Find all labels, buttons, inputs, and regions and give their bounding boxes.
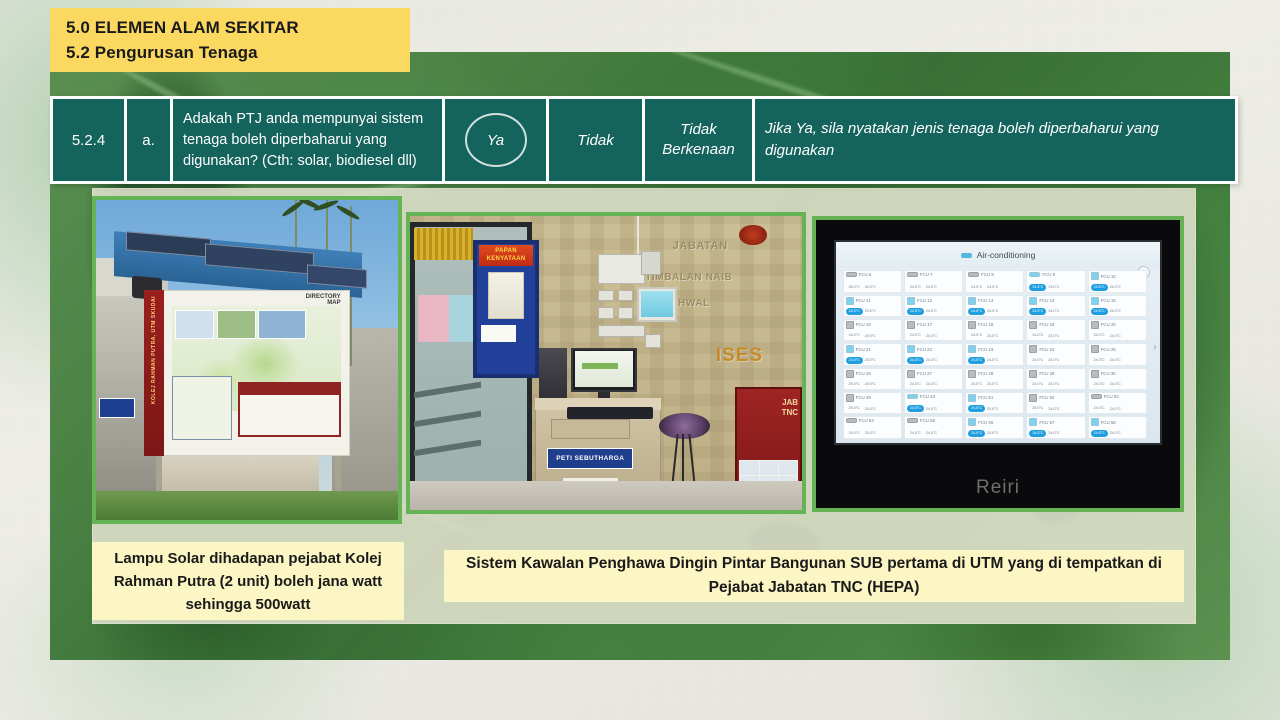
fcu-tile[interactable]: FCU 1824.0°C24.0°C <box>965 319 1024 341</box>
sponsor-logo <box>779 461 797 475</box>
fcu-set-temp: 24.0°C <box>1110 285 1121 289</box>
fcu-unit-name: FCU 27 <box>917 371 932 376</box>
fcu-unit-icon <box>1091 370 1099 378</box>
fcu-set-temp: 23.0°C <box>987 407 998 411</box>
fcu-set-temp: 24.0°C <box>926 407 937 411</box>
fcu-unit-name: FCU 55 <box>920 418 935 423</box>
wall-switch-row <box>598 325 645 337</box>
notice-paper <box>481 325 516 343</box>
fcu-set-temp: 24.0°C <box>1110 309 1121 313</box>
photo-office-lobby: JABATAN TIMBALAN NAIB HAL EHWAL ISES PAP… <box>406 212 806 514</box>
map-inset <box>172 376 232 440</box>
fcu-unit-name: FCU 52 <box>1039 395 1054 400</box>
fcu-unit-icon <box>1029 418 1037 426</box>
fcu-tile[interactable]: FCU 2024.0°C24.0°C <box>1088 319 1147 341</box>
fcu-tile[interactable]: FCU 824.0°C24.0°C <box>965 270 1024 292</box>
fcu-current-temp: 24.5°C <box>1091 308 1108 315</box>
fcu-unit-name: FCU 16 <box>856 322 871 327</box>
notice-board-line-2: KENYATAAN <box>479 255 534 263</box>
fcu-unit-icon <box>1029 321 1037 329</box>
fcu-tile[interactable]: FCU 2724.0°C24.0°C <box>904 368 963 390</box>
fcu-set-temp: 24.0°C <box>987 382 998 386</box>
fcu-tile[interactable]: FCU 2224.5°C24.0°C <box>904 343 963 365</box>
fcu-current-temp: 24.5°C <box>968 357 985 364</box>
fcu-set-temp: 24.0°C <box>926 382 937 386</box>
fcu-tile[interactable]: FCU 5524.0°C24.0°C <box>904 416 963 438</box>
fcu-unit-name: FCU 30 <box>1101 371 1116 376</box>
fcu-current-temp: 25.0°C <box>1029 405 1046 412</box>
map-title-text: DIRECTORY MAP <box>301 294 340 307</box>
photo-solar-signboard: KOLEJ RAHMAN PUTRA, UTM SKUDAI DIRECTORY… <box>92 196 402 524</box>
notice-board-line-1: PAPAN <box>479 247 534 255</box>
fcu-set-temp: 24.0°C <box>1110 334 1121 338</box>
ac-panel-header: Air-conditioning <box>836 242 1160 268</box>
monitor-screen-bar <box>582 363 617 369</box>
option-ya-cell[interactable]: Ya <box>445 99 549 181</box>
fcu-set-temp: 24.0°C <box>1048 407 1059 411</box>
fcu-unit-name: FCU 10 <box>1101 274 1116 279</box>
fcu-current-temp: 24.0°C <box>846 405 863 412</box>
fcu-set-temp: 24.0°C <box>987 285 998 289</box>
fcu-tile[interactable]: FCU 1124.5°C23.5°C <box>843 295 902 317</box>
fcu-tile[interactable]: FCU 2624.0°C24.0°C <box>843 368 902 390</box>
fcu-tile[interactable]: FCU 2424.0°C24.0°C <box>1026 343 1085 365</box>
question-table: 5.2.4 a. Adakah PTJ anda mempunyai siste… <box>50 96 1238 184</box>
wall-switch-4 <box>618 307 634 319</box>
question-text: Adakah PTJ anda mempunyai sistem tenaga … <box>173 99 445 181</box>
sponsor-logo <box>740 461 758 475</box>
fcu-tile[interactable]: FCU 5424.0°C23.0°C <box>843 416 902 438</box>
fcu-current-temp: 24.0°C <box>1029 357 1046 364</box>
fcu-unit-name: FCU 23 <box>978 347 993 352</box>
slide-title-line-1: 5.0 ELEMEN ALAM SEKITAR <box>66 15 410 40</box>
fcu-unit-name: FCU 6 <box>859 272 872 277</box>
fcu-set-temp: 24.0°C <box>1110 407 1121 411</box>
fcu-unit-icon <box>1091 297 1099 305</box>
fcu-tile[interactable]: FCU 2524.0°C24.0°C <box>1088 343 1147 365</box>
slide-title-box: 5.0 ELEMEN ALAM SEKITAR 5.2 Pengurusan T… <box>50 8 410 72</box>
fcu-set-temp: 24.0°C <box>1110 358 1121 362</box>
fcu-current-temp: 24.0°C <box>1091 357 1108 364</box>
wall-switch-3 <box>598 307 614 319</box>
fcu-set-temp: 24.0°C <box>1048 382 1059 386</box>
photo-office-content: JABATAN TIMBALAN NAIB HAL EHWAL ISES PAP… <box>410 216 802 510</box>
caption-solar-lamp: Lampu Solar dihadapan pejabat Kolej Rahm… <box>92 542 404 620</box>
fcu-unit-icon <box>968 394 976 402</box>
fcu-unit-name: FCU 7 <box>920 272 933 277</box>
wall-text-timbalan-naib: TIMBALAN NAIB <box>645 272 802 283</box>
fcu-set-temp: 23.0°C <box>865 431 876 435</box>
fcu-current-temp: 24.0°C <box>1091 332 1108 339</box>
fcu-tile[interactable]: FCU 2123.5°C23.0°C <box>843 343 902 365</box>
fcu-tile[interactable]: FCU 2324.5°C24.0°C <box>965 343 1024 365</box>
fcu-current-temp: 24.0°C <box>968 284 985 291</box>
control-box-small <box>641 251 661 275</box>
option-ya-label: Ya <box>487 132 504 149</box>
fcu-current-temp: 24.5°C <box>1029 308 1046 315</box>
fcu-tile[interactable]: FCU 5624.5°C24.0°C <box>965 416 1024 438</box>
fcu-unit-icon <box>968 272 979 277</box>
floor <box>410 481 802 510</box>
map-photo-3 <box>258 310 306 339</box>
fcu-unit-name: FCU 51 <box>978 395 993 400</box>
device-brand-label: Reiri <box>816 477 1180 499</box>
fcu-tile[interactable]: FCU 1424.5°C24.0°C <box>1026 295 1085 317</box>
fcu-current-temp: 24.5°C <box>1029 284 1046 291</box>
fcu-current-temp: 24.0°C <box>907 332 924 339</box>
fcu-set-temp: 24.0°C <box>1110 431 1121 435</box>
photo-solar-content: KOLEJ RAHMAN PUTRA, UTM SKUDAI DIRECTORY… <box>96 200 398 520</box>
option-tidak-cell[interactable]: Tidak <box>549 99 645 181</box>
fcu-current-temp: 24.0°C <box>846 430 863 437</box>
notice-board-header: PAPAN KENYATAAN <box>479 245 534 266</box>
fcu-unit-icon <box>1029 345 1037 353</box>
fcu-set-temp: 24.0°C <box>865 407 876 411</box>
fcu-unit-icon <box>968 370 976 378</box>
fcu-unit-icon <box>1029 370 1037 378</box>
fcu-unit-icon <box>846 297 854 305</box>
fcu-tile[interactable]: FCU 1724.0°C24.0°C <box>904 319 963 341</box>
fcu-tile[interactable]: FCU 5324.0°C24.0°C <box>1088 392 1147 414</box>
fcu-unit-name: FCU 18 <box>978 322 993 327</box>
map-photo-2 <box>217 310 256 339</box>
fcu-unit-icon <box>1029 394 1037 402</box>
pink-paper <box>418 295 453 342</box>
fcu-set-temp: 24.0°C <box>1110 382 1121 386</box>
fcu-current-temp: 24.5°C <box>907 357 924 364</box>
fcu-unit-name: FCU 58 <box>1101 420 1116 425</box>
fcu-current-temp: 24.5°C <box>1091 430 1108 437</box>
fcu-set-temp: 24.0°C <box>926 309 937 313</box>
fcu-set-temp: 24.0°C <box>865 334 876 338</box>
fcu-unit-icon <box>1029 297 1037 305</box>
fcu-tile[interactable]: FCU 1024.5°C24.0°C <box>1088 270 1147 292</box>
option-na-line-2: Berkenaan <box>662 140 735 160</box>
fcu-current-temp: 24.5°C <box>907 308 924 315</box>
fcu-unit-name: FCU 8 <box>981 272 994 277</box>
red-board-text: JAB TNC <box>743 398 798 439</box>
fcu-set-temp: 24.0°C <box>926 358 937 362</box>
fcu-tile[interactable]: FCU 2824.0°C24.0°C <box>965 368 1024 390</box>
fcu-current-temp: 24.0°C <box>907 284 924 291</box>
fcu-unit-icon <box>846 345 854 353</box>
fcu-set-temp: 24.0°C <box>1048 309 1059 313</box>
fcu-current-temp: 24.0°C <box>907 381 924 388</box>
fcu-unit-name: FCU 28 <box>978 371 993 376</box>
signboard-side-text: KOLEJ RAHMAN PUTRA, UTM SKUDAI <box>151 296 157 404</box>
fcu-unit-name: FCU 54 <box>859 418 874 423</box>
fcu-tile[interactable]: FCU 5724.5°C24.0°C <box>1026 416 1085 438</box>
sponsor-logo <box>760 461 778 475</box>
fcu-current-temp: 24.5°C <box>907 405 924 412</box>
fcu-unit-icon <box>907 418 918 423</box>
fcu-unit-icon <box>907 272 918 277</box>
fcu-unit-name: FCU 17 <box>917 322 932 327</box>
fcu-current-temp: 24.5°C <box>968 430 985 437</box>
fcu-tile[interactable]: FCU 1924.0°C23.0°C <box>1026 319 1085 341</box>
fcu-unit-name: FCU 25 <box>1101 347 1116 352</box>
fcu-tile[interactable]: FCU 5824.5°C24.0°C <box>1088 416 1147 438</box>
fcu-tile[interactable]: FCU 1324.5°C24.0°C <box>965 295 1024 317</box>
control-box <box>598 254 645 283</box>
signboard-base-wall <box>162 456 319 494</box>
gold-curtain <box>414 228 473 260</box>
fcu-current-temp: 24.5°C <box>846 308 863 315</box>
fcu-tile[interactable]: FCU 4324.5°C24.0°C <box>904 392 963 414</box>
fcu-unit-name: FCU 29 <box>1039 371 1054 376</box>
fcu-current-temp: 24.0°C <box>1091 381 1108 388</box>
fcu-current-temp: 24.0°C <box>846 381 863 388</box>
fcu-unit-name: FCU 11 <box>856 298 871 303</box>
fcu-unit-name: FCU 21 <box>856 347 871 352</box>
fcu-unit-name: FCU 57 <box>1039 420 1054 425</box>
fcu-tile[interactable]: FCU 628.0°C24.0°C <box>843 270 902 292</box>
fcu-unit-name: FCU 20 <box>1101 322 1116 327</box>
fcu-tile[interactable]: FCU 1624.0°C24.0°C <box>843 319 902 341</box>
fcu-tile[interactable]: FCU 1524.5°C24.0°C <box>1088 295 1147 317</box>
fcu-unit-icon <box>846 394 854 402</box>
fcu-set-temp: 24.0°C <box>987 431 998 435</box>
grass-foreground <box>96 491 398 520</box>
fcu-unit-grid: FCU 628.0°C24.0°CFCU 724.0°C24.0°CFCU 82… <box>843 270 1147 438</box>
fcu-unit-icon <box>1091 394 1102 399</box>
fcu-tile[interactable]: FCU 3924.0°C24.0°C <box>843 392 902 414</box>
fcu-unit-name: FCU 26 <box>856 371 871 376</box>
fcu-current-temp: 24.0°C <box>1029 381 1046 388</box>
fcu-unit-icon <box>846 272 857 277</box>
fcu-unit-icon <box>1091 418 1099 426</box>
fcu-unit-name: FCU 9 <box>1042 272 1055 277</box>
fcu-current-temp: 24.0°C <box>968 332 985 339</box>
air-conditioner-icon <box>961 253 972 258</box>
red-board-line-2: TNC <box>743 408 798 418</box>
signboard-side-banner: KOLEJ RAHMAN PUTRA, UTM SKUDAI <box>144 290 164 456</box>
fcu-tile[interactable]: FCU 2924.0°C24.0°C <box>1026 368 1085 390</box>
keyboard <box>567 407 653 419</box>
fcu-unit-name: FCU 43 <box>920 394 935 399</box>
fcu-current-temp: 24.5°C <box>968 405 985 412</box>
fcu-set-temp: 24.0°C <box>926 431 937 435</box>
podium-panel-inset <box>551 419 629 440</box>
fcu-unit-icon <box>968 345 976 353</box>
fcu-set-temp: 24.0°C <box>1048 358 1059 362</box>
fcu-current-temp: 24.5°C <box>968 308 985 315</box>
fcu-unit-name: FCU 24 <box>1039 347 1054 352</box>
fcu-set-temp: 24.0°C <box>1048 431 1059 435</box>
fcu-unit-icon <box>1029 272 1040 277</box>
wall-socket <box>645 334 661 349</box>
question-subletter: a. <box>127 99 173 181</box>
fcu-unit-name: FCU 53 <box>1104 394 1119 399</box>
chevron-right-icon[interactable]: › <box>1153 342 1156 353</box>
fcu-unit-name: FCU 56 <box>978 420 993 425</box>
fcu-tile[interactable]: FCU 5124.5°C23.0°C <box>965 392 1024 414</box>
fcu-current-temp: 23.5°C <box>846 357 863 364</box>
fcu-unit-name: FCU 22 <box>917 347 932 352</box>
fcu-current-temp: 24.5°C <box>1091 284 1108 291</box>
fcu-unit-icon <box>907 321 915 329</box>
red-board-line-1: JAB <box>743 398 798 408</box>
ac-panel-title: Air-conditioning <box>977 250 1036 260</box>
podium-label-peti-sebutharga: PETI SEBUTHARGA <box>547 448 633 469</box>
fcu-unit-name: FCU 15 <box>1101 298 1116 303</box>
fcu-current-temp: 24.0°C <box>1029 332 1046 339</box>
fcu-unit-icon <box>968 297 976 305</box>
wall-touch-panel-screen <box>641 291 672 317</box>
fcu-set-temp: 24.0°C <box>926 285 937 289</box>
wall-conduit <box>637 216 639 257</box>
option-tidak-berkenaan-cell[interactable]: Tidak Berkenaan <box>645 99 755 181</box>
map-photo-1 <box>175 310 214 339</box>
fcu-unit-icon <box>968 418 976 426</box>
fcu-set-temp: 23.0°C <box>1048 334 1059 338</box>
wall-text-jabatan: JABATAN <box>673 240 802 252</box>
notice-poster <box>488 272 523 319</box>
fcu-tile[interactable]: FCU 1224.5°C24.0°C <box>904 295 963 317</box>
fcu-unit-icon <box>907 370 915 378</box>
question-number: 5.2.4 <box>53 99 127 181</box>
fcu-unit-icon <box>907 394 918 399</box>
fcu-set-temp: 23.0°C <box>1048 285 1059 289</box>
fcu-set-temp: 24.0°C <box>987 358 998 362</box>
fcu-set-temp: 24.0°C <box>987 309 998 313</box>
fcu-current-temp: 24.0°C <box>1091 405 1108 412</box>
fcu-unit-icon <box>846 321 854 329</box>
fcu-current-temp: 24.0°C <box>968 381 985 388</box>
ises-wall-lettering: ISES <box>716 345 802 367</box>
fcu-set-temp: 24.0°C <box>926 334 937 338</box>
fcu-tile[interactable]: FCU 3024.0°C24.0°C <box>1088 368 1147 390</box>
fcu-unit-icon <box>1091 345 1099 353</box>
fcu-unit-icon <box>907 345 915 353</box>
fcu-unit-name: FCU 19 <box>1039 322 1054 327</box>
fcu-unit-name: FCU 12 <box>917 298 932 303</box>
fcu-unit-icon <box>1091 272 1099 280</box>
fcu-set-temp: 23.0°C <box>865 358 876 362</box>
fcu-current-temp: 24.0°C <box>907 430 924 437</box>
blue-wall-sign <box>99 398 135 417</box>
fcu-unit-icon <box>1091 321 1099 329</box>
fcu-unit-icon <box>907 297 915 305</box>
fcu-current-temp: 28.0°C <box>846 284 863 291</box>
fcu-set-temp: 24.0°C <box>865 382 876 386</box>
fcu-tile[interactable]: FCU 5225.0°C24.0°C <box>1026 392 1085 414</box>
fcu-current-temp: 24.0°C <box>846 332 863 339</box>
caption-ac-system: Sistem Kawalan Penghawa Dingin Pintar Ba… <box>444 550 1184 602</box>
wall-switch-2 <box>618 290 634 302</box>
map-legend-title <box>238 382 341 395</box>
fcu-unit-name: FCU 13 <box>978 298 993 303</box>
fcu-unit-icon <box>968 321 976 329</box>
fcu-set-temp: 24.0°C <box>987 334 998 338</box>
fcu-unit-icon <box>846 418 857 423</box>
question-note-cell: Jika Ya, sila nyatakan jenis tenaga bole… <box>755 99 1235 181</box>
slide-title-line-2: 5.2 Pengurusan Tenaga <box>66 40 410 65</box>
fcu-tile[interactable]: FCU 924.5°C23.0°C <box>1026 270 1085 292</box>
fcu-unit-name: FCU 14 <box>1039 298 1054 303</box>
option-na-line-1: Tidak <box>662 120 735 140</box>
fcu-unit-icon <box>846 370 854 378</box>
fcu-set-temp: 23.5°C <box>865 309 876 313</box>
fcu-tile[interactable]: FCU 724.0°C24.0°C <box>904 270 963 292</box>
fcu-set-temp: 24.0°C <box>865 285 876 289</box>
photo-reiri-ac-panel: Air-conditioning × › FCU 628.0°C24.0°CFC… <box>812 216 1184 512</box>
ac-control-screen: Air-conditioning × › FCU 628.0°C24.0°CFC… <box>834 240 1162 444</box>
fcu-current-temp: 24.5°C <box>1029 430 1046 437</box>
wall-switch-1 <box>598 290 614 302</box>
fcu-unit-name: FCU 39 <box>856 395 871 400</box>
